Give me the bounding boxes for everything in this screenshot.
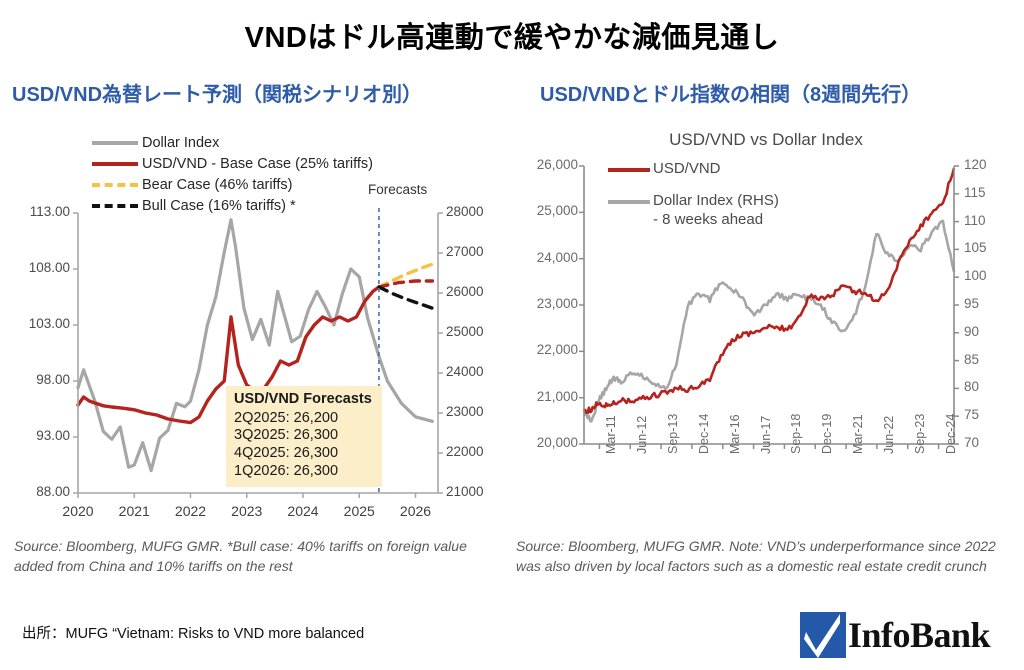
y-right-tick: 26000 (446, 284, 484, 299)
series-line (379, 287, 432, 308)
y-left-tick: 108.00 (8, 260, 70, 275)
x-tick: 2021 (114, 503, 154, 519)
slide-root: VNDはドル高連動で緩やかな減価見通し USD/VND為替レート予測（関税シナリ… (0, 0, 1024, 670)
page-title: VNDはドル高連動で緩やかな減価見通し (0, 14, 1024, 56)
x-tick: 2024 (283, 503, 323, 519)
y-right-tick: 100 (964, 268, 987, 283)
y-right-tick: 90 (964, 324, 979, 339)
forecast-row-1q2026: 1Q2026: 26,300 (234, 463, 374, 481)
y-right-tick: 27000 (446, 244, 484, 259)
infobank-wordmark: InfoBank (848, 614, 990, 656)
y-right-tick: 95 (964, 296, 979, 311)
x-tick: Dec-19 (820, 414, 834, 454)
left-chart-panel: Dollar Index USD/VND - Base Case (25% ta… (8, 118, 508, 528)
x-tick: Mar-16 (728, 414, 742, 454)
right-chart-source: Source: Bloomberg, MUFG GMR. Note: VND’s… (516, 536, 1016, 577)
x-tick: 2026 (396, 503, 436, 519)
forecast-row-4q2025: 4Q2025: 26,300 (234, 445, 374, 463)
y-right-tick: 80 (964, 379, 979, 394)
x-tick: 2020 (58, 503, 98, 519)
right-chart-panel: USD/VND vs Dollar Index USD/VND Dollar I… (512, 118, 1020, 528)
y-left-tick: 24,000 (512, 250, 578, 265)
forecast-box-heading: USD/VND Forecasts (234, 391, 374, 409)
y-left-tick: 103.00 (8, 316, 70, 331)
left-chart-source: Source: Bloomberg, MUFG GMR. *Bull case:… (14, 536, 504, 577)
x-tick: Sep-18 (789, 414, 803, 454)
forecast-callout-box: USD/VND Forecasts 2Q2025: 26,200 3Q2025:… (226, 386, 382, 487)
x-tick: 2025 (339, 503, 379, 519)
y-right-tick: 115 (964, 185, 986, 200)
y-left-tick: 26,000 (512, 157, 578, 172)
y-left-tick: 25,000 (512, 203, 578, 218)
x-tick: Mar-21 (851, 414, 865, 454)
y-left-tick: 23,000 (512, 296, 578, 311)
x-tick: Jun-12 (635, 416, 649, 454)
x-tick: Jun-17 (759, 416, 773, 454)
y-right-tick: 24000 (446, 364, 484, 379)
y-right-tick: 110 (964, 213, 986, 228)
x-tick: Sep-13 (666, 414, 680, 454)
y-right-tick: 120 (964, 157, 987, 172)
x-tick: Jun-22 (882, 416, 896, 454)
y-right-tick: 22000 (446, 444, 484, 459)
right-chart-plot (512, 118, 1020, 528)
y-right-tick: 21000 (446, 484, 484, 499)
infobank-logo: InfoBank (800, 612, 990, 658)
y-left-tick: 20,000 (512, 435, 578, 450)
y-left-tick: 22,000 (512, 342, 578, 357)
forecast-row-2q2025: 2Q2025: 26,200 (234, 410, 374, 428)
x-tick: 2022 (171, 503, 211, 519)
checkmark-icon (800, 612, 846, 658)
x-tick: Dec-24 (944, 414, 958, 454)
footer-note: 出所：MUFG “Vietnam: Risks to VND more bala… (22, 622, 364, 643)
y-right-tick: 28000 (446, 204, 484, 219)
y-right-tick: 23000 (446, 404, 484, 419)
y-right-tick: 70 (964, 435, 979, 450)
x-tick: Dec-14 (697, 414, 711, 454)
series-line (584, 221, 954, 421)
y-left-tick: 113.00 (8, 204, 70, 219)
y-left-tick: 93.00 (8, 428, 70, 443)
left-chart-subtitle: USD/VND為替レート予測（関税シナリオ別） (12, 78, 422, 107)
x-tick: 2023 (227, 503, 267, 519)
forecast-row-3q2025: 3Q2025: 26,300 (234, 427, 374, 445)
right-chart-subtitle: USD/VNDとドル指数の相関（8週間先行） (540, 78, 921, 107)
y-right-tick: 75 (964, 407, 979, 422)
y-left-tick: 21,000 (512, 389, 578, 404)
y-right-tick: 25000 (446, 324, 484, 339)
x-tick: Mar-11 (604, 415, 618, 454)
y-right-tick: 105 (964, 240, 987, 255)
y-left-tick: 98.00 (8, 372, 70, 387)
x-tick: Sep-23 (913, 414, 927, 454)
y-left-tick: 88.00 (8, 484, 70, 499)
y-right-tick: 85 (964, 352, 979, 367)
